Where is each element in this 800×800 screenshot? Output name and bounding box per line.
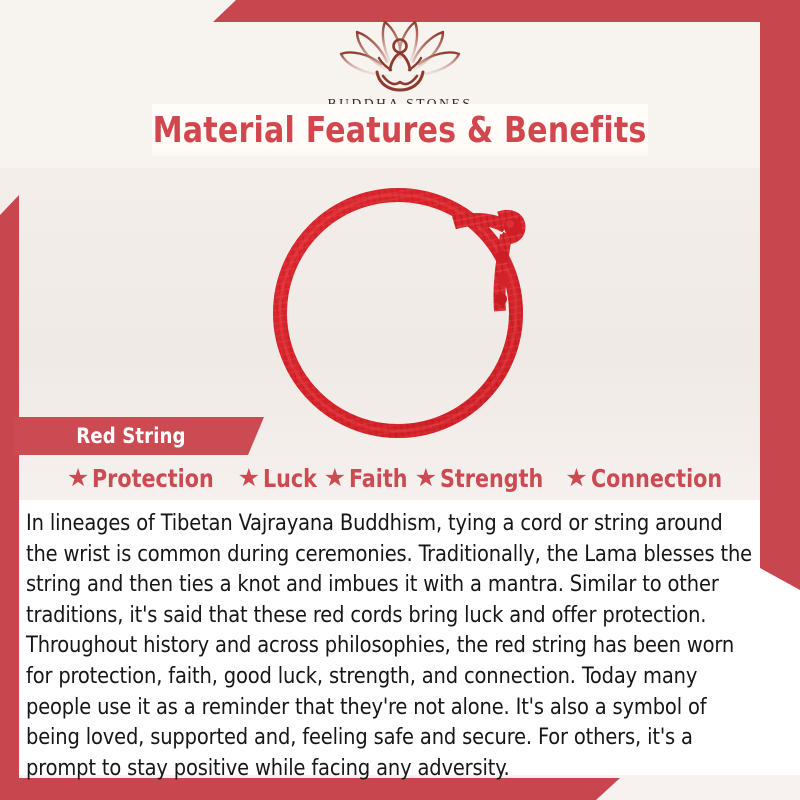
benefit-label: Faith [349,464,407,493]
benefit-label: Luck [263,464,317,493]
lotus-meditation-icon [325,14,475,94]
star-icon: ★ [324,466,346,491]
benefit-label: Protection [92,464,214,493]
star-icon: ★ [415,466,437,491]
ribbon-label-text: Red String [76,424,185,448]
benefits-row: ★ Protection ★ Luck ★ Faith ★ Strength ★… [28,464,772,493]
star-icon: ★ [238,466,260,491]
title-banner: Material Features & Benefits [152,104,648,156]
benefit-item-faith: ★ Faith [324,464,413,493]
benefit-label: Strength [440,464,543,493]
benefit-item-luck: ★ Luck [238,464,322,493]
infographic-poster: BUDDHA STONES Material Features & Benefi… [0,0,800,800]
benefit-label: Connection [591,464,722,493]
star-icon: ★ [67,466,89,491]
ribbon-label-red-string: Red String [14,417,264,455]
benefit-item-connection: ★ Connection [565,464,733,493]
star-icon: ★ [565,466,587,491]
benefit-item-protection: ★ Protection [67,464,225,493]
body-paragraph: In lineages of Tibetan Vajrayana Buddhis… [26,508,759,783]
benefit-item-strength: ★ Strength [415,464,553,493]
brand-block: BUDDHA STONES [0,14,800,112]
product-image-red-string-bracelet [258,165,558,445]
decorative-bar-left [0,195,19,780]
page-title: Material Features & Benefits [153,110,647,151]
bracelet-illustration [258,165,558,445]
